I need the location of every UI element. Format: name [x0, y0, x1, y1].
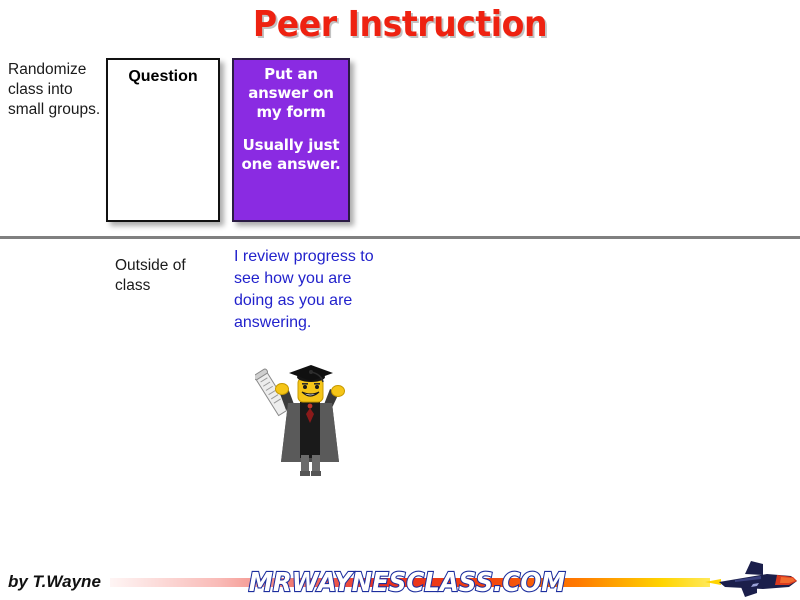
answer-card-line1: Put an answer on my form [234, 65, 348, 122]
answer-card-line2: Usually just one answer. [234, 136, 348, 174]
page-title: Peer Instruction [32, 4, 768, 45]
site-name: MRWAYNESCLASS.COM [247, 568, 567, 598]
jet-rocket-icon [705, 560, 797, 600]
review-progress-note: I review progress to see how you are doi… [234, 246, 374, 334]
randomize-class-note: Randomize class into small groups. [8, 60, 104, 120]
lego-graduate-figure-icon [255, 358, 365, 478]
answer-card[interactable]: Put an answer on my form Usually just on… [232, 58, 350, 222]
byline: by T.Wayne [8, 572, 101, 592]
section-divider [0, 236, 800, 239]
slide-canvas: Peer Instruction Randomize class into sm… [0, 0, 800, 600]
outside-of-class-note: Outside of class [115, 256, 215, 296]
question-card-label: Question [108, 68, 218, 86]
question-card[interactable]: Question [106, 58, 220, 222]
answer-card-spacer [234, 122, 348, 136]
